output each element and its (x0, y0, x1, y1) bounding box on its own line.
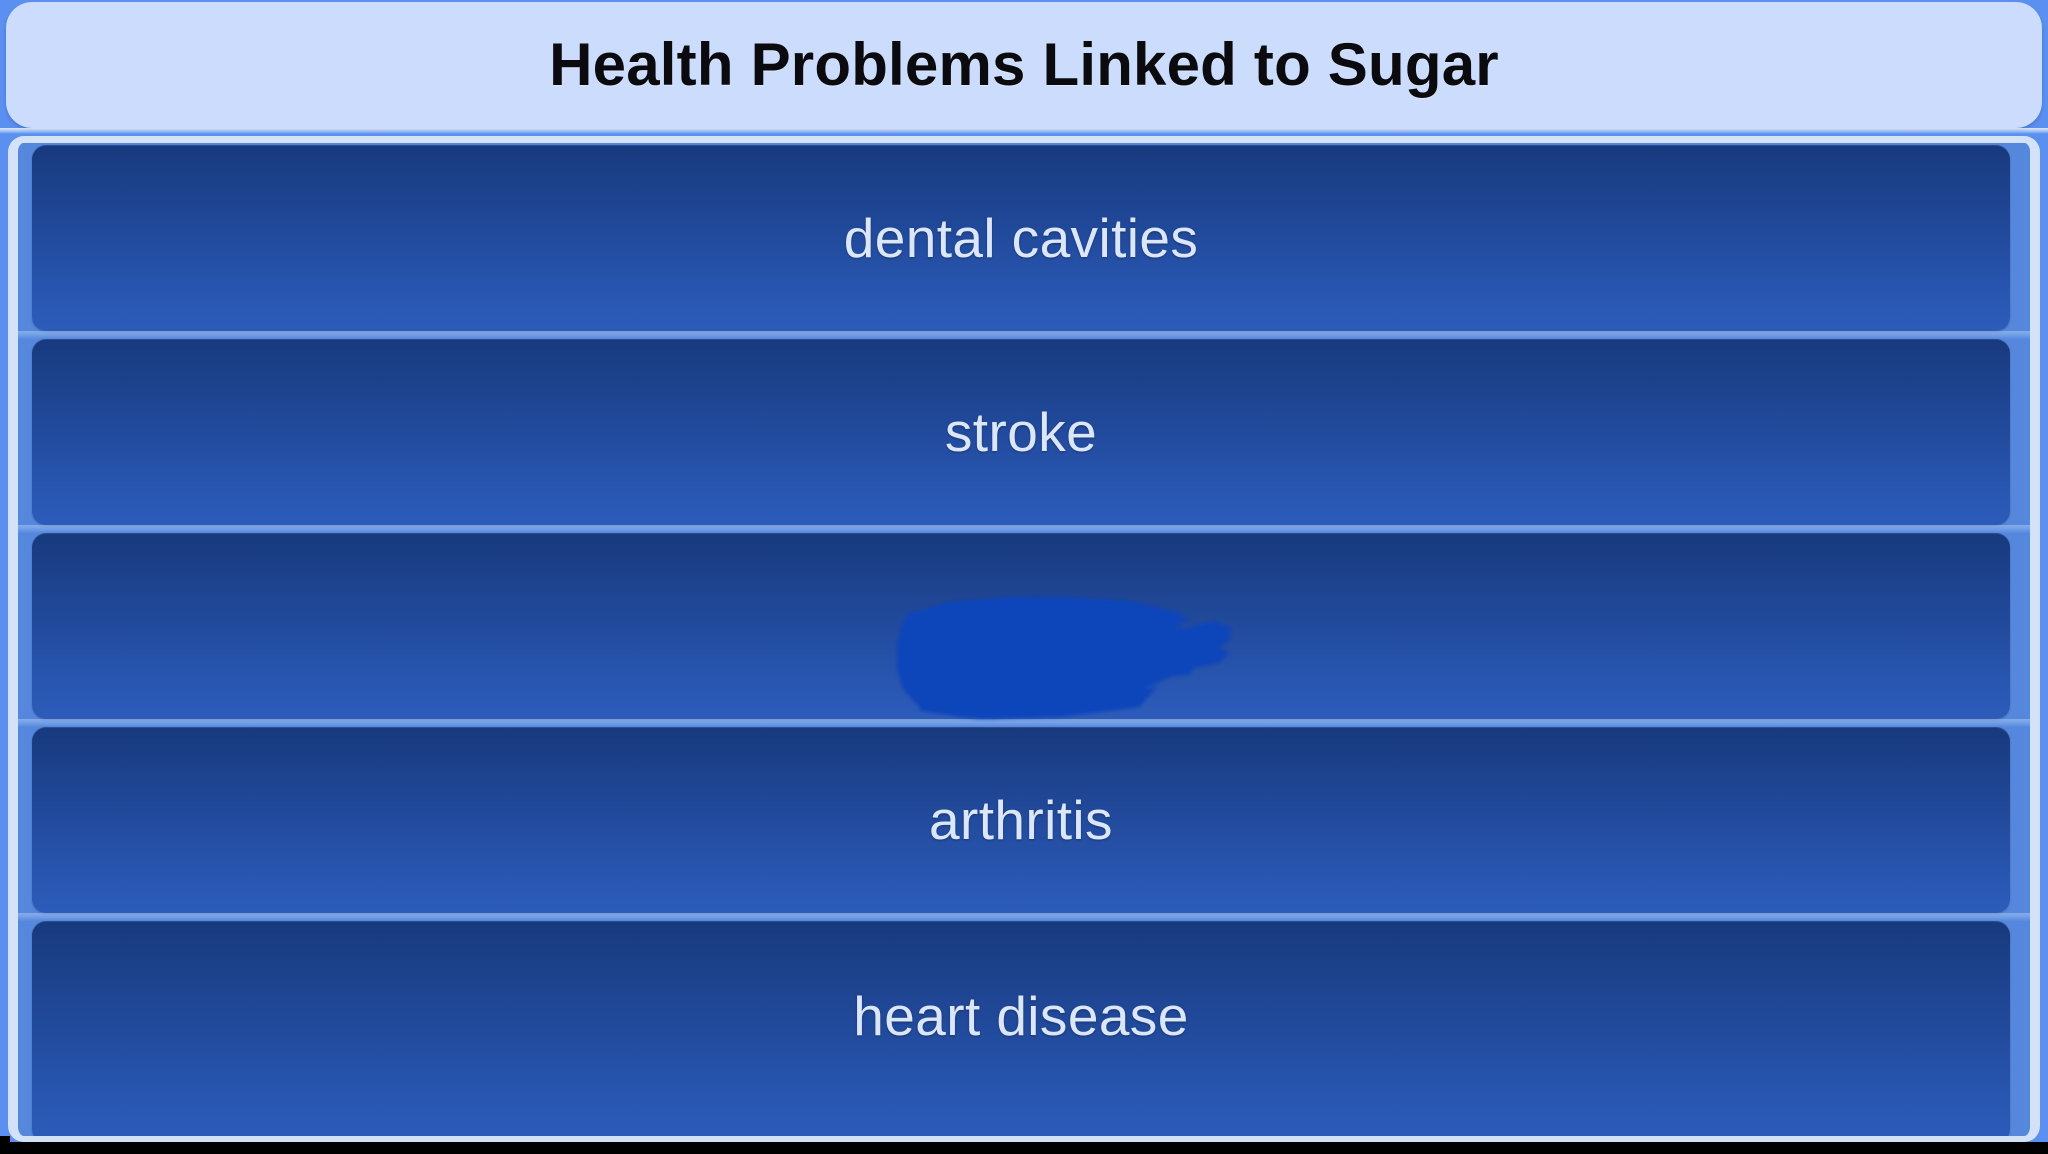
list-item[interactable]: stroke (32, 339, 2010, 525)
list-item[interactable]: heart disease (32, 921, 2010, 1142)
list-item-label: stroke (945, 405, 1097, 460)
list-surface[interactable]: dental cavities stroke arthritis heart d… (18, 143, 2030, 1136)
page-title-bar: Health Problems Linked to Sugar (6, 2, 2042, 128)
title-underline-divider (0, 128, 2048, 134)
page-title: Health Problems Linked to Sugar (549, 35, 1499, 95)
list-separator (18, 913, 2030, 921)
list-item-label: dental cavities (844, 211, 1199, 266)
list-item-redacted[interactable] (32, 533, 2010, 719)
list-item-label: heart disease (853, 989, 1188, 1044)
bottom-system-bar (0, 1142, 2048, 1154)
list-separator (18, 525, 2030, 533)
list-item[interactable]: dental cavities (32, 145, 2010, 331)
list-item-label: arthritis (929, 793, 1113, 848)
list-separator (18, 331, 2030, 339)
app-root: Health Problems Linked to Sugar dental c… (0, 0, 2048, 1154)
list-separator (18, 719, 2030, 727)
list-frame: dental cavities stroke arthritis heart d… (8, 136, 2040, 1142)
list-item[interactable]: arthritis (32, 727, 2010, 913)
